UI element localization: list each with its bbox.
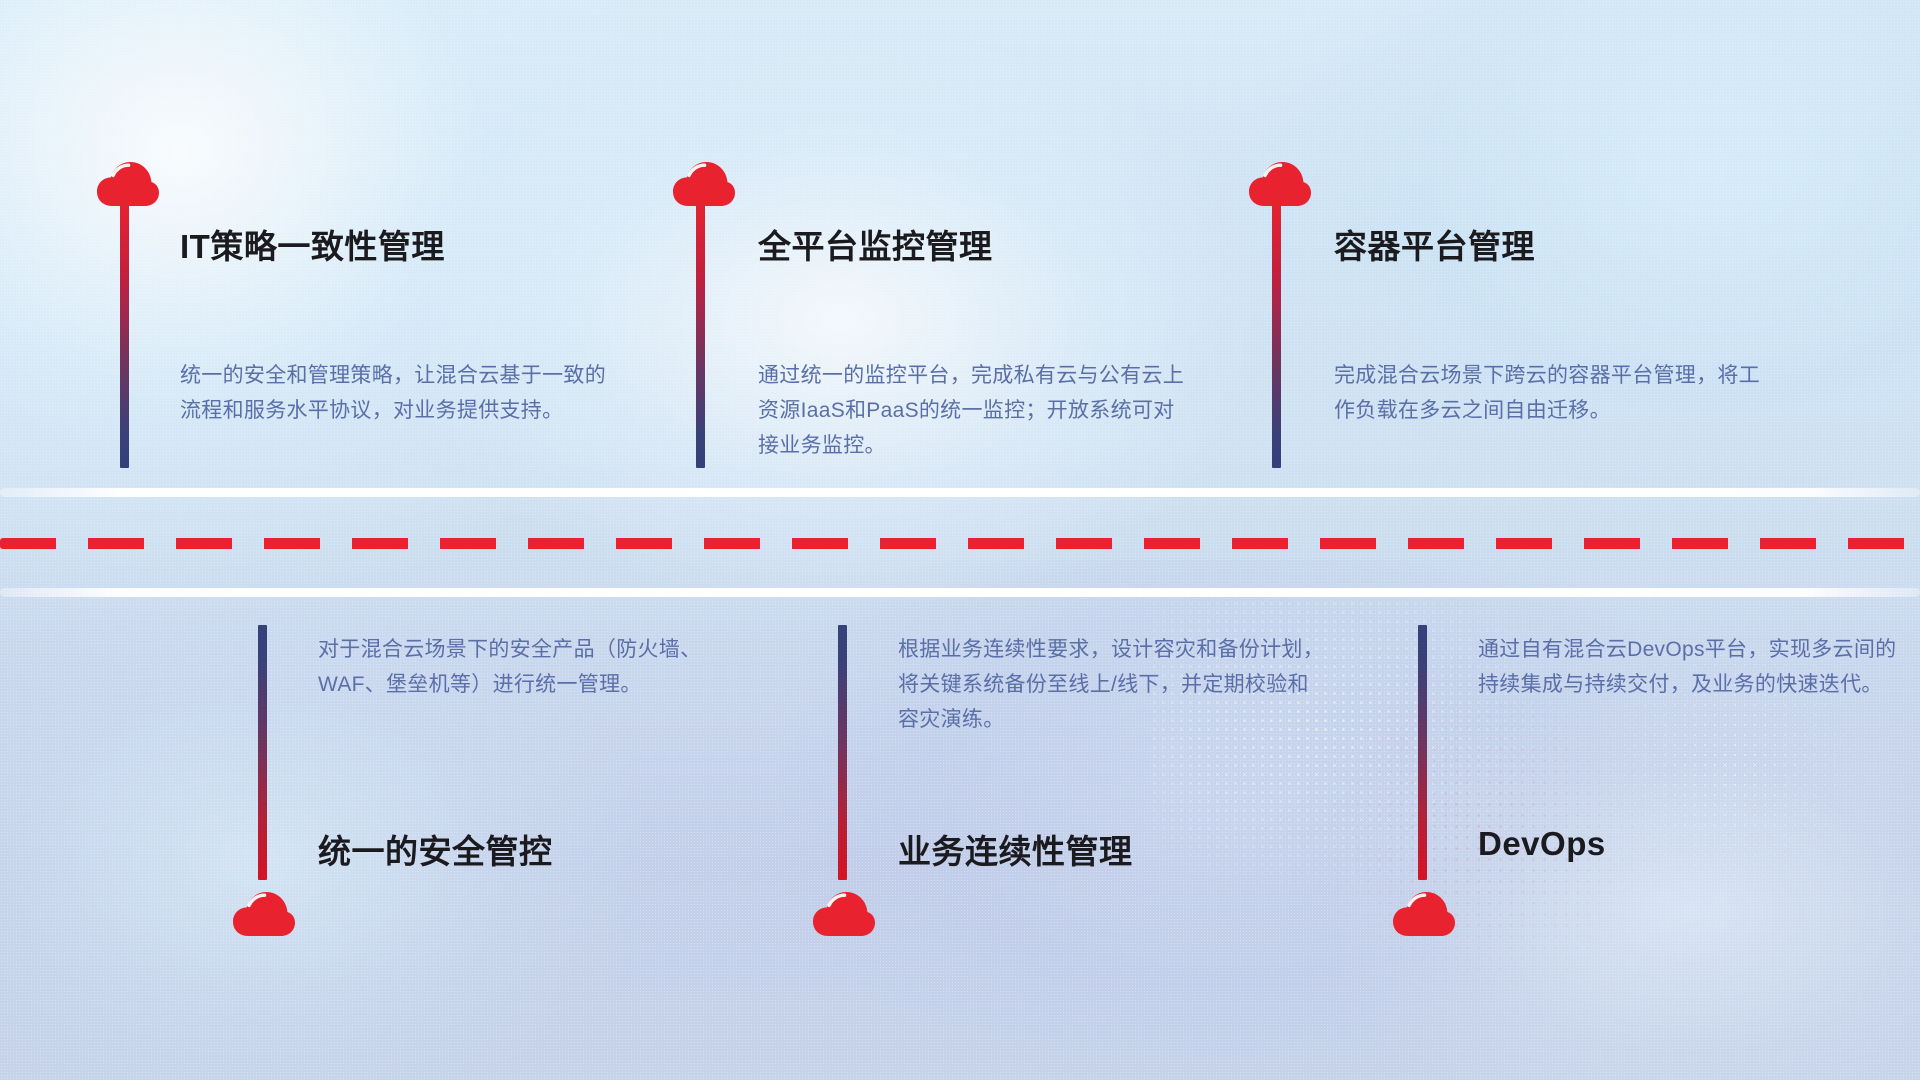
stem-connector [258,625,267,880]
cloud-pin-icon [812,890,876,938]
stem-connector [838,625,847,880]
top-item-title-2: 全平台监控管理 [758,220,993,268]
bottom-item-body-3: 通过自有混合云DevOps平台，实现多云间的持续集成与持续交付，及业务的快速迭代… [1478,632,1908,702]
divider-dashed-line [0,538,1920,549]
cloud-pin-icon [1392,890,1456,938]
bottom-item-title-1: 统一的安全管控 [318,825,553,873]
top-item-body-1: 统一的安全和管理策略，让混合云基于一致的流程和服务水平协议，对业务提供支持。 [180,358,610,428]
top-item-title-3: 容器平台管理 [1334,220,1535,268]
stem-connector [1272,198,1281,468]
stem-connector [696,198,705,468]
stem-connector [1418,625,1427,880]
top-item-title-1: IT策略一致性管理 [180,220,445,268]
top-item-body-2: 通过统一的监控平台，完成私有云与公有云上资源IaaS和PaaS的统一监控；开放系… [758,358,1188,463]
divider-rule-top [0,488,1920,497]
bottom-item-title-3: DevOps [1478,825,1606,863]
bottom-item-title-2: 业务连续性管理 [898,825,1133,873]
bottom-item-body-2: 根据业务连续性要求，设计容灾和备份计划，将关键系统备份至线上/线下，并定期校验和… [898,632,1328,737]
bottom-item-body-1: 对于混合云场景下的安全产品（防火墙、WAF、堡垒机等）进行统一管理。 [318,632,748,702]
divider-rule-bottom [0,588,1920,597]
center-divider [0,488,1920,596]
cloud-pin-icon [232,890,296,938]
top-item-body-3: 完成混合云场景下跨云的容器平台管理，将工作负载在多云之间自由迁移。 [1334,358,1764,428]
stem-connector [120,198,129,468]
